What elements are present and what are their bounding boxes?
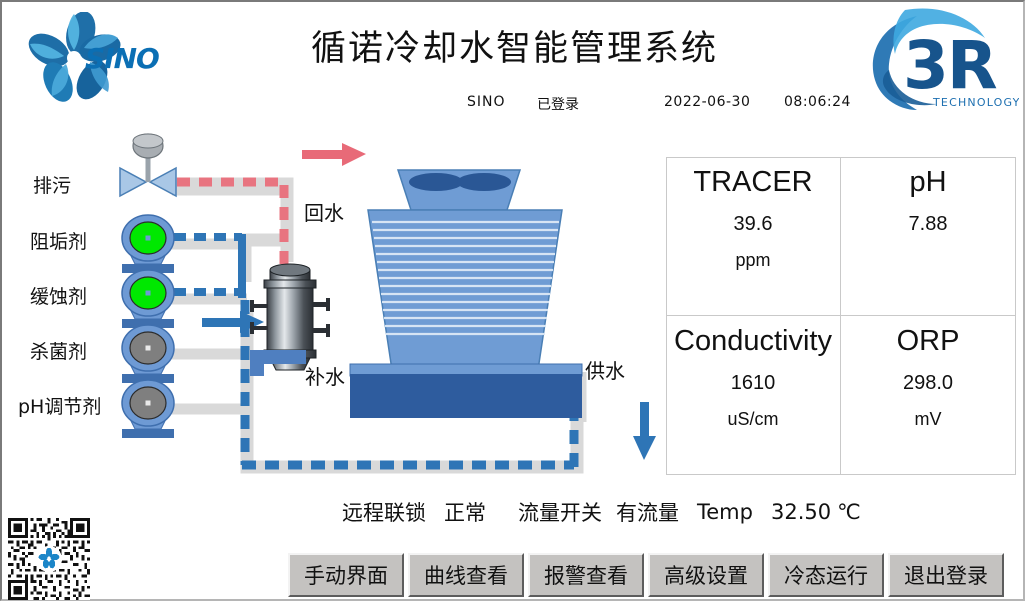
supply-flow-arrow bbox=[633, 402, 656, 460]
label-blowdown: 排污 bbox=[33, 171, 71, 198]
curve-view-button[interactable]: 曲线查看 bbox=[408, 553, 524, 597]
flow-switch-value: 有流量 bbox=[616, 497, 679, 527]
measurement-ph-value: 7.88 bbox=[909, 213, 948, 236]
measurement-orp[interactable]: ORP 298.0 mV bbox=[841, 316, 1015, 474]
measurement-ph[interactable]: pH 7.88 bbox=[841, 157, 1015, 315]
login-status: 已登录 bbox=[537, 94, 579, 114]
manual-interface-button[interactable]: 手动界面 bbox=[288, 553, 404, 597]
measurement-tracer-name: TRACER bbox=[693, 165, 812, 199]
system-date: 2022-06-30 bbox=[664, 94, 750, 110]
advanced-settings-button[interactable]: 高级设置 bbox=[648, 553, 764, 597]
flow-switch-label: 流量开关 bbox=[518, 497, 602, 527]
measurement-ph-name: pH bbox=[909, 165, 946, 199]
remote-interlock-label: 远程联锁 bbox=[342, 497, 426, 527]
dosing-pump-2 bbox=[122, 270, 174, 328]
measurement-tracer-value: 39.6 bbox=[734, 213, 773, 236]
measurement-conductivity-name: Conductivity bbox=[674, 324, 832, 358]
tower-basin bbox=[350, 374, 582, 418]
measurement-orp-name: ORP bbox=[897, 324, 960, 358]
return-flow-arrow bbox=[302, 143, 366, 166]
label-corrosion-inhibitor: 缓蚀剂 bbox=[30, 282, 87, 309]
dosing-pump-3 bbox=[122, 325, 174, 383]
dosing-pump-4 bbox=[122, 380, 174, 438]
label-return-water: 回水 bbox=[304, 197, 344, 226]
temperature-unit: ℃ bbox=[837, 500, 861, 524]
application-window: SINO 3R TECHNOLOGY 循诺冷却水智能管理系统 SINO 已登录 … bbox=[0, 0, 1025, 601]
3r-logo-subtext: TECHNOLOGY bbox=[932, 96, 1019, 109]
label-makeup-water: 补水 bbox=[305, 361, 345, 390]
blowdown-valve bbox=[120, 134, 176, 196]
current-user: SINO bbox=[467, 94, 506, 110]
temperature-label: Temp bbox=[697, 500, 753, 524]
label-supply-water: 供水 bbox=[585, 355, 625, 384]
measurement-conductivity[interactable]: Conductivity 1610 uS/cm bbox=[666, 316, 840, 474]
process-diagram: 排污 阻垢剂 缓蚀剂 杀菌剂 pH调节剂 回水 补水 供水 bbox=[2, 122, 662, 492]
measurement-tracer-unit: ppm bbox=[735, 250, 770, 271]
label-antiscalant: 阻垢剂 bbox=[30, 227, 87, 254]
temperature-value: 32.50 bbox=[771, 500, 831, 524]
dosing-pump-1 bbox=[122, 215, 174, 273]
logout-button[interactable]: 退出登录 bbox=[888, 553, 1004, 597]
measurement-orp-unit: mV bbox=[915, 409, 942, 430]
button-bar: 手动界面 曲线查看 报警查看 高级设置 冷态运行 退出登录 bbox=[288, 553, 1004, 597]
measurement-conductivity-unit: uS/cm bbox=[727, 409, 778, 430]
measurement-tracer[interactable]: TRACER 39.6 ppm bbox=[666, 157, 840, 315]
alarm-view-button[interactable]: 报警查看 bbox=[528, 553, 644, 597]
status-bar: 远程联锁 正常 流量开关 有流量 Temp 32.50 ℃ bbox=[342, 497, 861, 527]
measurement-panel: TRACER 39.6 ppm pH 7.88 Conductivity 161… bbox=[666, 157, 1016, 475]
label-biocide: 杀菌剂 bbox=[30, 337, 87, 364]
page-title: 循诺冷却水智能管理系统 bbox=[2, 20, 1025, 71]
measurement-orp-value: 298.0 bbox=[903, 372, 953, 395]
cold-start-button[interactable]: 冷态运行 bbox=[768, 553, 884, 597]
qr-code bbox=[8, 518, 90, 600]
measurement-conductivity-value: 1610 bbox=[731, 372, 776, 395]
remote-interlock-value: 正常 bbox=[444, 497, 486, 527]
system-time: 08:06:24 bbox=[784, 94, 851, 110]
label-ph-adjuster: pH调节剂 bbox=[18, 392, 101, 419]
tower-body bbox=[368, 210, 562, 370]
